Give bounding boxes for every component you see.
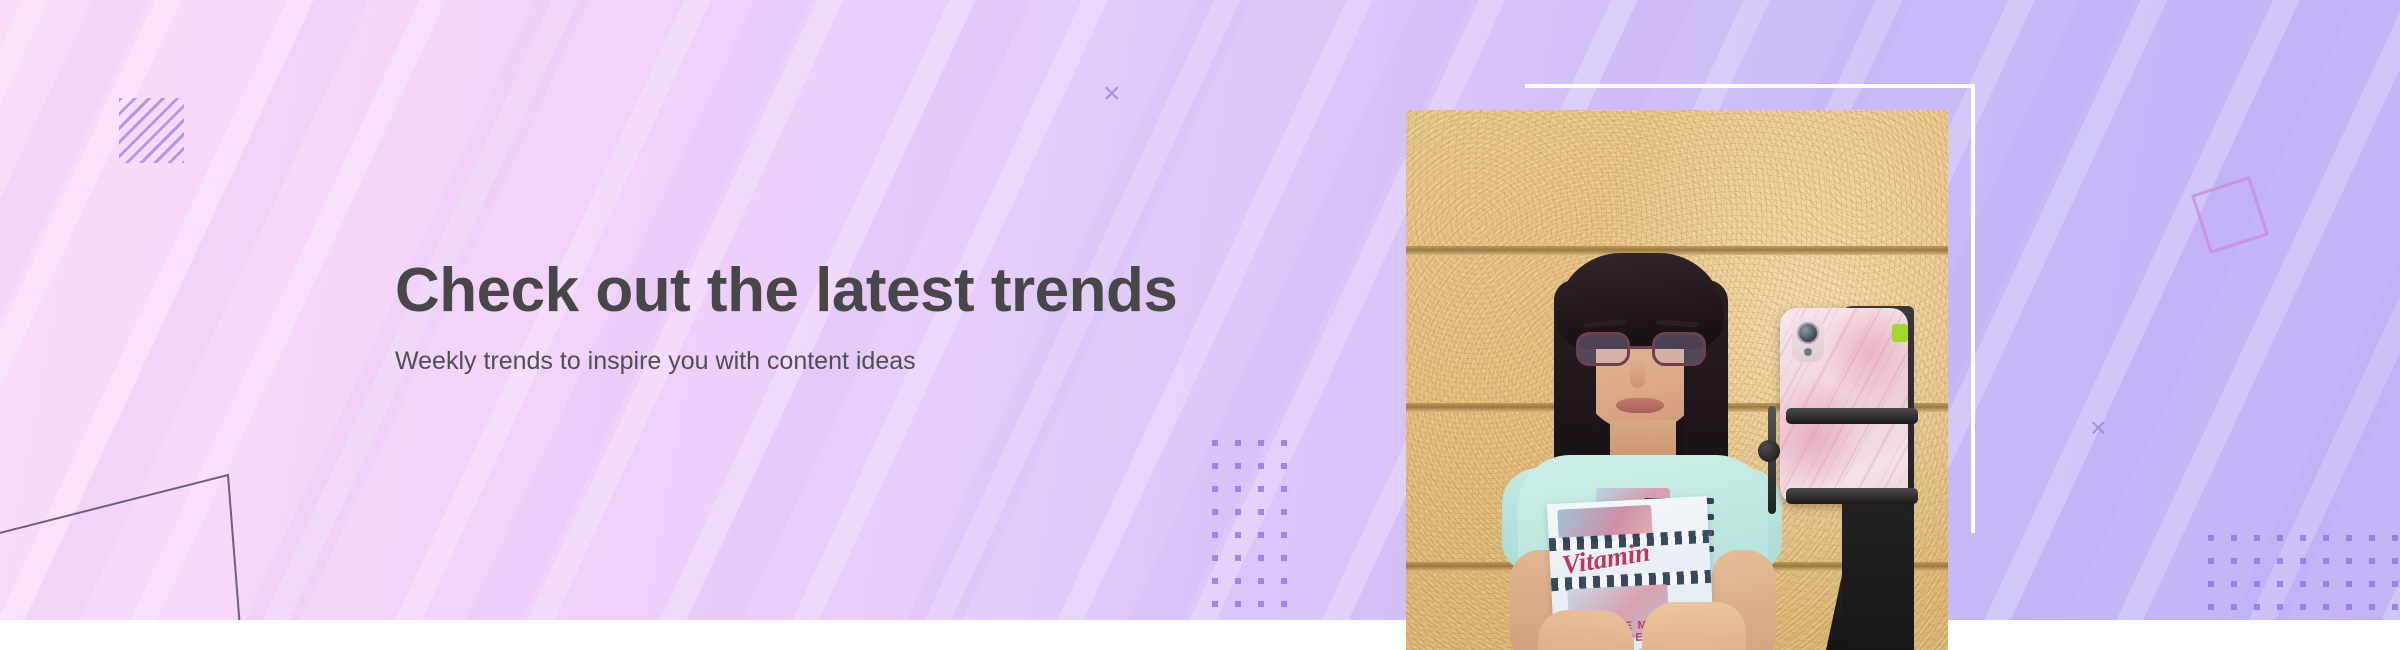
thin-polygon-decoration [0,455,310,620]
hero-photo: TAKE ME TO ST TROPEZ Vitamin Vitamin TAK… [1406,110,1948,650]
phone-clamp-knob [1758,440,1780,462]
phone-clamp-top [1786,408,1918,424]
tripod-indicator [1892,324,1908,342]
camera-icon [1792,318,1824,362]
nose [1630,358,1645,388]
page-title: Check out the latest trends [395,258,1295,323]
diamond-outline-decoration [2191,176,2269,254]
lips [1616,398,1664,413]
dot-grid-decoration [1212,440,1287,620]
hand-left [1538,610,1634,650]
page-subtitle: Weekly trends to inspire you with conten… [395,345,1295,378]
camera-lens [1799,324,1817,342]
dot-grid-decoration [2208,535,2398,610]
lens-right [1652,332,1706,366]
hero-copy-block: Check out the latest trends Weekly trend… [395,258,1295,378]
trends-hero-banner: × × Check out the latest trends Weekly t… [0,0,2400,650]
x-mark-icon: × [2090,414,2106,442]
phone-clamp-bottom [1786,488,1918,504]
hatched-square-decoration [119,98,184,163]
lens-left [1576,332,1630,366]
camera-flash [1804,348,1812,356]
hand-right [1642,602,1746,650]
x-mark-icon: × [1103,79,1121,109]
glasses-bridge [1630,346,1652,349]
smartphone-with-marble-case [1780,308,1908,504]
